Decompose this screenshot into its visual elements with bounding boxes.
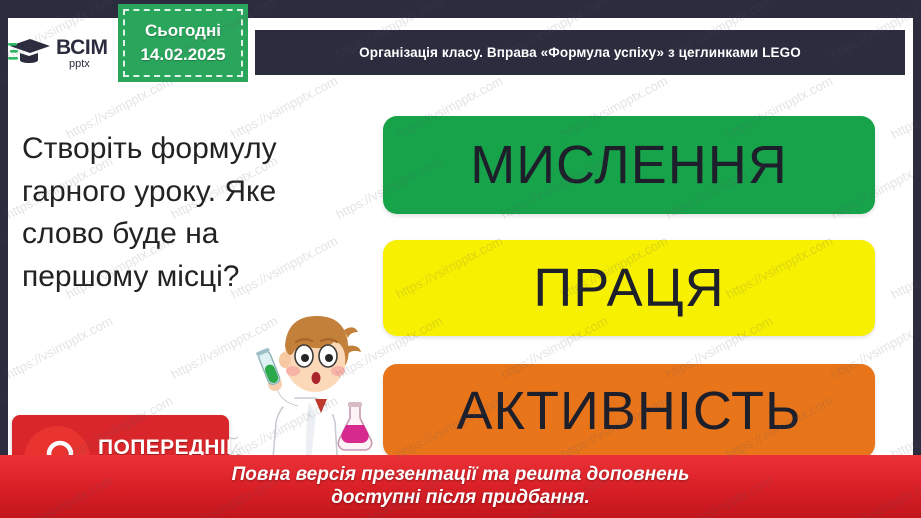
header-bar: Організація класу. Вправа «Формула успіх…: [255, 30, 905, 75]
brick-label: АКТИВНІСТЬ: [457, 380, 802, 442]
slide-root: ВСІМ pptx Сьогодні 14.02.2025 Організаці…: [0, 0, 921, 518]
brick-work[interactable]: ПРАЦЯ: [383, 240, 875, 336]
brick-label: ПРАЦЯ: [533, 257, 724, 319]
brick-activity[interactable]: АКТИВНІСТЬ: [383, 364, 875, 458]
date-badge: Сьогодні 14.02.2025: [118, 4, 248, 82]
brick-thinking[interactable]: МИСЛЕННЯ: [383, 116, 875, 214]
logo-name: ВСІМ: [56, 37, 108, 58]
brand-logo: ВСІМ pptx: [8, 28, 128, 78]
purchase-banner: Повна версія презентації та решта доповн…: [0, 455, 921, 518]
date-badge-value: 14.02.2025: [140, 45, 225, 65]
banner-line-1: Повна версія презентації та решта доповн…: [232, 464, 690, 486]
page-title: Організація класу. Вправа «Формула успіх…: [359, 45, 801, 60]
logo-subname: pptx: [69, 59, 108, 70]
question-text: Створіть формулу гарного уроку. Яке слов…: [22, 128, 322, 298]
graduation-cap-icon: [8, 35, 52, 71]
date-badge-label: Сьогодні: [145, 21, 221, 41]
brick-label: МИСЛЕННЯ: [470, 134, 787, 196]
banner-line-2: доступні після придбання.: [331, 487, 590, 509]
